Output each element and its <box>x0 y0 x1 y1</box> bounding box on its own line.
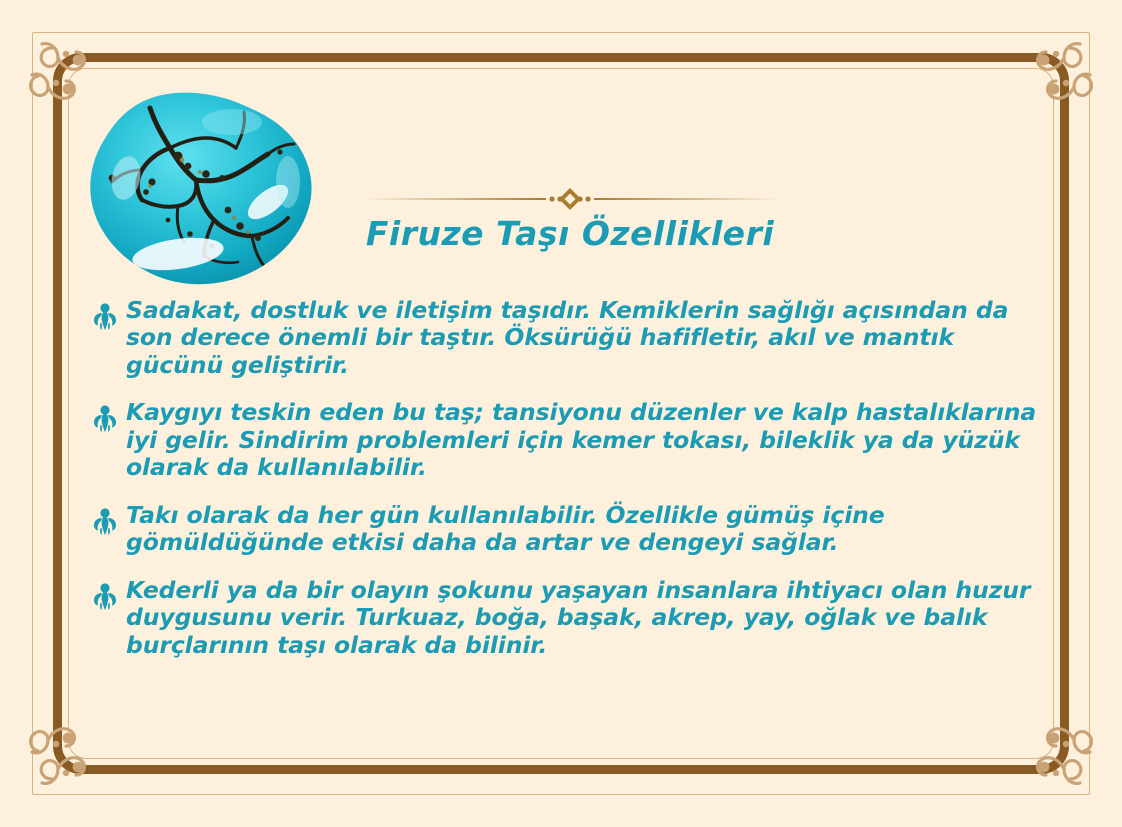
fleur-de-lis-bullet-icon <box>92 508 126 538</box>
page-title: Firuze Taşı Özellikleri <box>330 214 810 253</box>
list-item-text: Kaygıyı teskin eden bu taş; tansiyonu dü… <box>126 399 1052 481</box>
fleur-de-lis-bullet-icon <box>92 405 126 435</box>
list-item-text: Sadakat, dostluk ve iletişim taşıdır. Ke… <box>126 297 1052 379</box>
header: Firuze Taşı Özellikleri <box>330 186 810 253</box>
list-item-text: Kederli ya da bir olayın şokunu yaşayan … <box>126 577 1052 659</box>
fleur-de-lis-bullet-icon <box>92 303 126 333</box>
diamond-divider-icon <box>360 186 780 212</box>
list-item: Sadakat, dostluk ve iletişim taşıdır. Ke… <box>92 297 1052 379</box>
list-item-text: Takı olarak da her gün kullanılabilir. Ö… <box>126 502 1052 557</box>
corner-flourish-icon-top-right <box>954 18 1104 138</box>
properties-list: Sadakat, dostluk ve iletişim taşıdır. Ke… <box>92 297 1052 679</box>
corner-flourish-icon-bottom-right <box>954 689 1104 809</box>
fleur-de-lis-bullet-icon <box>92 583 126 613</box>
list-item: Kederli ya da bir olayın şokunu yaşayan … <box>92 577 1052 659</box>
turquoise-stone-image <box>82 86 322 292</box>
list-item: Takı olarak da her gün kullanılabilir. Ö… <box>92 502 1052 557</box>
list-item: Kaygıyı teskin eden bu taş; tansiyonu dü… <box>92 399 1052 481</box>
corner-flourish-icon-bottom-left <box>18 689 168 809</box>
info-card: Firuze Taşı Özellikleri Sadakat, dostluk… <box>0 0 1122 827</box>
